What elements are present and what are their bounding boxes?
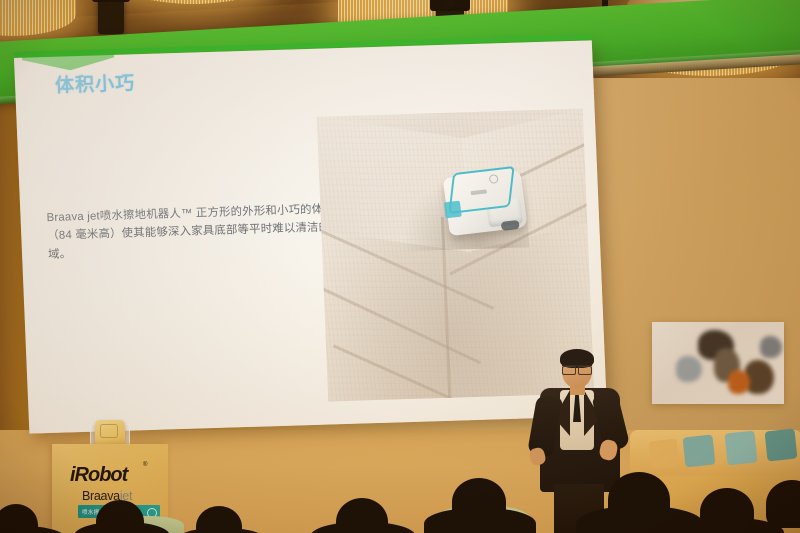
eyeglasses-icon	[562, 365, 592, 373]
couch-pillow	[765, 429, 798, 462]
audience-shoulders	[424, 508, 536, 533]
demo-robot-unit	[95, 420, 125, 446]
eyeglass-lens	[578, 366, 592, 375]
slide-body-text: Braava jet喷水擦地机器人™ 正方形的外形和小巧的体积（84 毫米高）使…	[46, 200, 348, 265]
braava-jet-robot	[438, 163, 533, 247]
slide-surface: 体积小巧 Braava jet喷水擦地机器人™ 正方形的外形和小巧的体积（84 …	[14, 40, 607, 433]
couch-pillow	[683, 435, 716, 468]
eyeglass-lens	[562, 366, 576, 375]
projection-screen[interactable]: 体积小巧 Braava jet喷水擦地机器人™ 正方形的外形和小巧的体积（84 …	[14, 40, 607, 433]
couch-pillow	[724, 431, 757, 466]
irobot-brand-logo: iRobot	[70, 464, 127, 487]
robot-side-accent	[444, 201, 462, 219]
wall-painting	[652, 322, 784, 404]
slide-chevron-tab-icon	[22, 49, 115, 72]
presentation-scene: 体积小巧 Braava jet喷水擦地机器人™ 正方形的外形和小巧的体积（84 …	[0, 0, 800, 533]
painting-brushstroke	[676, 356, 702, 382]
robot-wheel	[501, 220, 520, 231]
registered-trademark-icon: ®	[143, 462, 147, 468]
painting-brushstroke	[728, 370, 750, 394]
painting-brushstroke	[760, 336, 782, 358]
stage-spotlight	[98, 0, 124, 34]
spotlight-arm	[447, 0, 454, 6]
slide-title: 体积小巧	[55, 68, 136, 97]
couch-pillow	[649, 439, 680, 470]
spotlight-head	[92, 0, 129, 2]
